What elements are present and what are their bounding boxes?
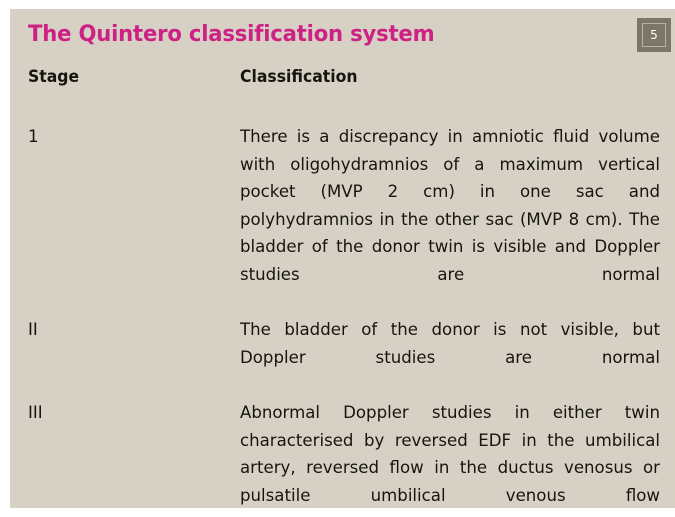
cell-stage: 1 bbox=[28, 123, 240, 151]
table-row: II The bladder of the donor is not visib… bbox=[28, 316, 660, 399]
cell-stage: III bbox=[28, 399, 240, 427]
cell-classification: The bladder of the donor is not visible,… bbox=[240, 316, 660, 399]
page-title: The Quintero classification system bbox=[28, 21, 434, 47]
quintero-classification-table: Stage Classification 1 There is a discre… bbox=[28, 65, 660, 517]
column-header-classification: Classification bbox=[240, 65, 626, 89]
cell-classification: There is a discrepancy in amniotic fluid… bbox=[240, 123, 660, 316]
table-row: III Abnormal Doppler studies in either t… bbox=[28, 399, 660, 517]
slide: The Quintero classification system 5 Sta… bbox=[0, 0, 675, 517]
cell-stage: II bbox=[28, 316, 240, 344]
cell-classification: Abnormal Doppler studies in either twin … bbox=[240, 399, 660, 517]
slide-canvas: The Quintero classification system 5 Sta… bbox=[10, 9, 675, 508]
table-header-row: Stage Classification bbox=[28, 65, 660, 89]
column-header-stage: Stage bbox=[28, 65, 223, 89]
table-row: 1 There is a discrepancy in amniotic flu… bbox=[28, 123, 660, 316]
page-number-badge: 5 bbox=[637, 18, 671, 52]
page-number-badge-inner: 5 bbox=[642, 23, 666, 47]
page-number: 5 bbox=[650, 29, 658, 41]
